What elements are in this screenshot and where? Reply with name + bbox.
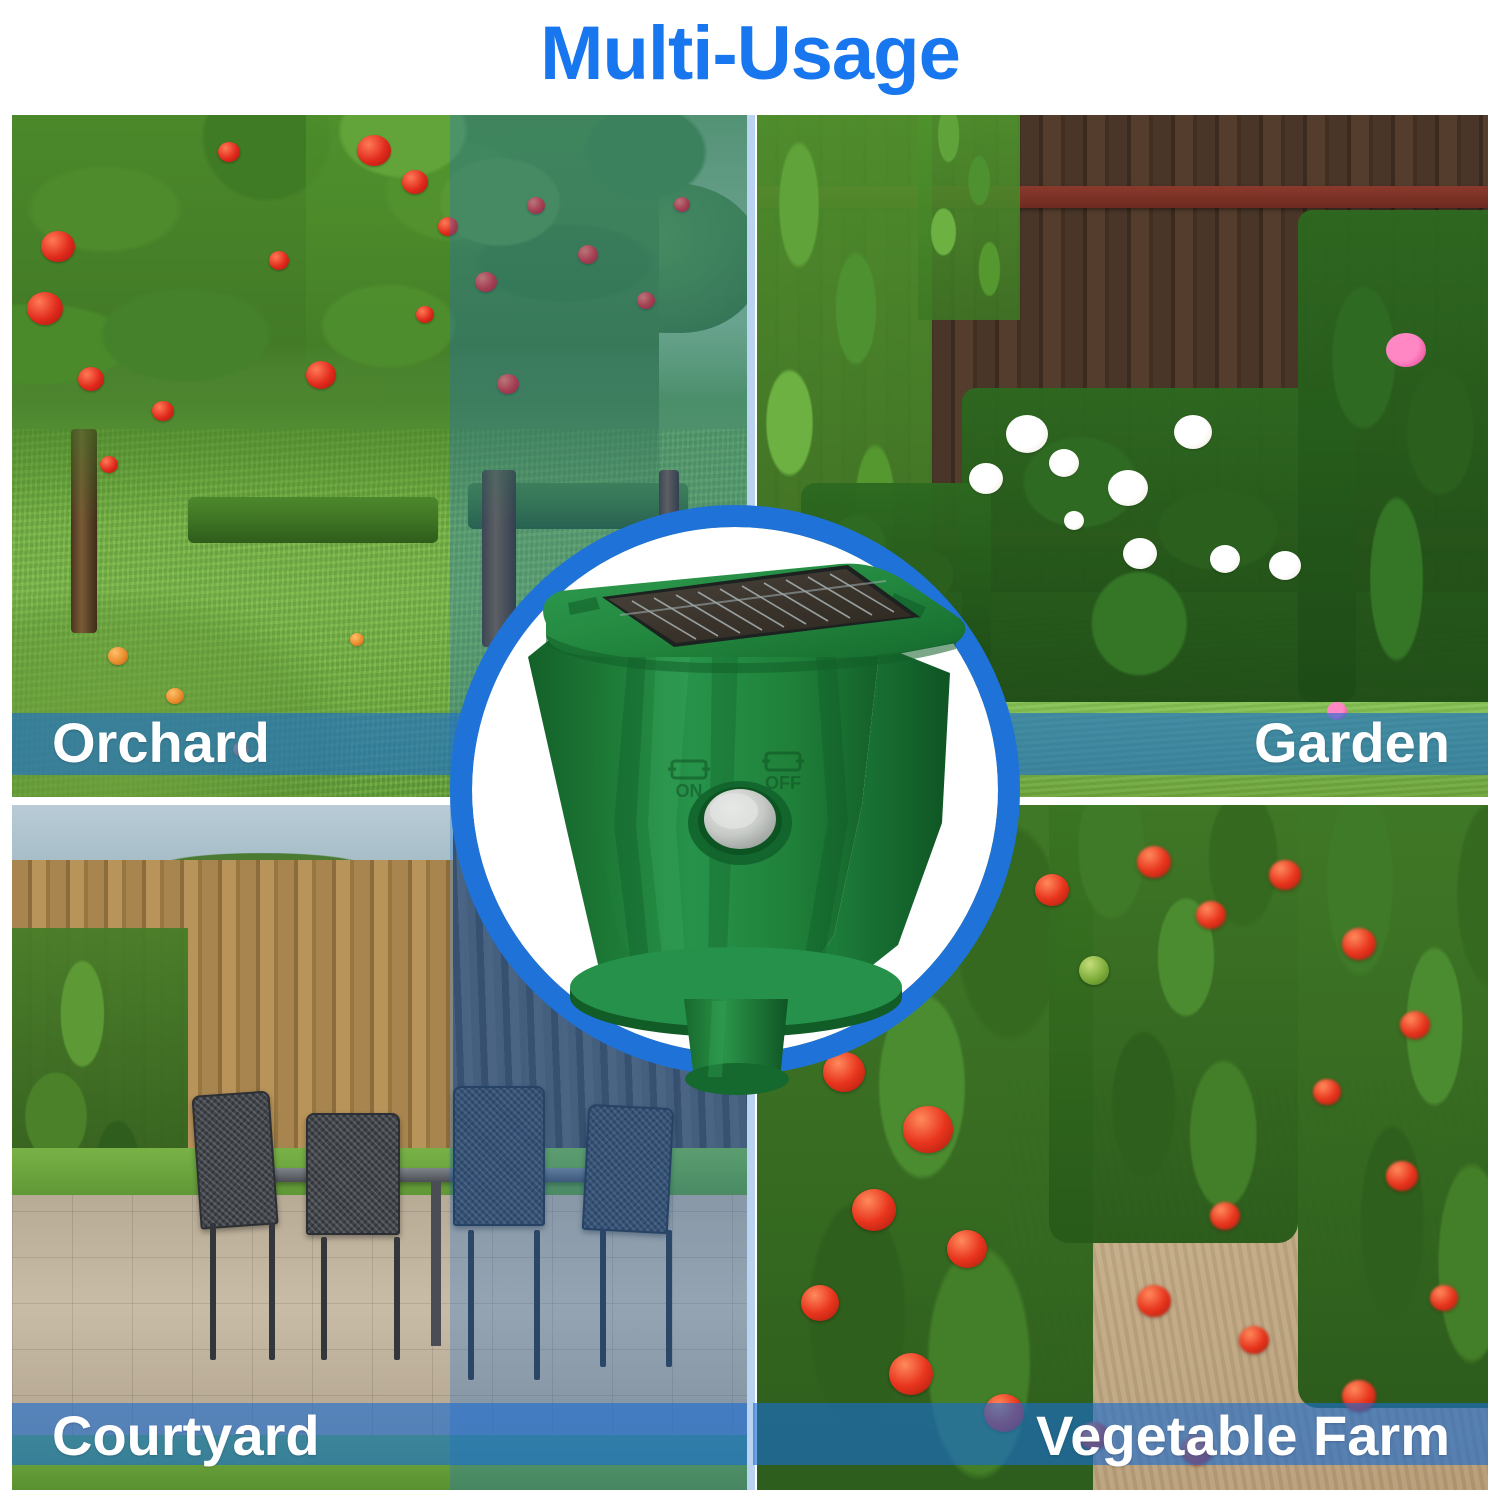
apple-fruit: [27, 292, 63, 325]
apple-fruit: [637, 292, 655, 309]
tomato-fruit: [852, 1189, 896, 1231]
tomato-fruit: [1239, 1326, 1269, 1354]
chair-leg: [666, 1230, 672, 1367]
chair-leg: [534, 1230, 540, 1381]
white-peony: [1064, 511, 1084, 530]
badge-blue-ring: [450, 505, 1020, 1075]
chair-leg: [269, 1223, 275, 1360]
patio-chair: [582, 1104, 674, 1234]
page-title: Multi-Usage: [0, 8, 1500, 100]
apple-fruit: [527, 197, 545, 214]
pink-peony: [1386, 333, 1426, 367]
white-peony: [1269, 551, 1301, 580]
white-peony: [1123, 538, 1157, 569]
label-orchard: Orchard: [52, 712, 270, 774]
tomato-plant-row: [1049, 805, 1298, 1243]
tomato-fruit-unripe: [1079, 956, 1109, 985]
tomato-fruit: [1400, 1011, 1430, 1039]
table-leg: [431, 1182, 441, 1346]
chair-leg: [394, 1237, 400, 1360]
tomato-fruit: [1035, 874, 1069, 906]
label-courtyard: Courtyard: [52, 1405, 320, 1467]
tomato-fruit: [1386, 1161, 1418, 1191]
tomato-fruit: [801, 1285, 839, 1321]
white-peony: [1006, 415, 1048, 453]
chair-leg: [321, 1237, 327, 1360]
apple-fruit: [674, 197, 690, 212]
apple-fruit: [152, 401, 174, 421]
patio-chair: [453, 1086, 545, 1226]
tomato-fruit: [1313, 1079, 1341, 1105]
marketing-image-canvas: Multi-Usage: [0, 0, 1500, 1500]
apple-fruit: [475, 272, 497, 292]
tomato-fruit: [1269, 860, 1301, 890]
tomato-fruit: [1137, 846, 1171, 878]
tomato-fruit: [1196, 901, 1226, 929]
tomato-fruit: [889, 1353, 933, 1395]
apple-fruit: [306, 361, 336, 389]
white-peony: [1210, 545, 1240, 573]
tomato-fruit: [1342, 928, 1376, 960]
patio-chair: [306, 1113, 400, 1235]
center-product-badge: [450, 505, 1020, 1075]
tomato-fruit: [947, 1230, 987, 1268]
white-peony: [969, 463, 1003, 494]
tomato-fruit: [1137, 1285, 1171, 1317]
chair-leg: [468, 1230, 474, 1381]
apple-fruit: [578, 245, 598, 264]
patio-chair: [191, 1090, 278, 1229]
chair-leg: [210, 1223, 216, 1360]
apple-fruit: [402, 170, 428, 194]
fallen-apple: [108, 647, 128, 665]
label-vegetable-farm: Vegetable Farm: [1036, 1405, 1450, 1467]
label-garden: Garden: [1254, 712, 1450, 774]
apple-fruit: [218, 142, 240, 162]
white-peony: [1108, 470, 1148, 506]
tomato-fruit: [1430, 1285, 1458, 1311]
tomato-plant-row: [1298, 805, 1488, 1408]
rose-bush: [1298, 210, 1488, 701]
climbing-ivy: [918, 115, 1020, 320]
white-peony: [1174, 415, 1212, 449]
chair-leg: [600, 1230, 606, 1367]
tomato-fruit: [984, 1394, 1024, 1432]
